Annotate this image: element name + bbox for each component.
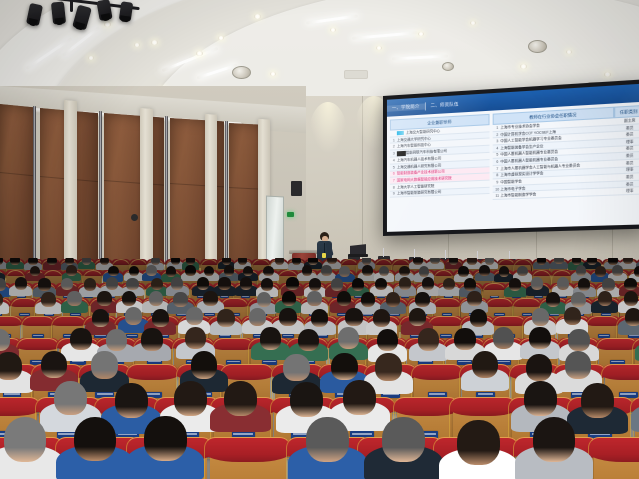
audience-member-head xyxy=(532,308,549,326)
auditorium-seat[interactable] xyxy=(210,440,286,479)
laptop xyxy=(348,254,368,257)
row-index: 4 xyxy=(391,158,397,163)
audience-member-head xyxy=(449,258,459,265)
audience-member-head xyxy=(0,352,22,380)
audience-member-head xyxy=(191,351,217,379)
audience-member-head xyxy=(546,292,561,307)
audience-member-head xyxy=(152,309,169,327)
audience-member-head xyxy=(467,258,477,265)
row-index: 9 xyxy=(391,192,397,196)
audience-member-head xyxy=(173,292,188,307)
audience-member-head xyxy=(576,265,587,276)
slide-right-table: 教师在行业协会任职情况 任职类别 1上海市专业技术协会学会副主席2中国计算机学会… xyxy=(493,105,639,229)
slide-left-table: 企业兼职导师 上海交大智能研究中心1上海交通大学研究中心2上海汽车智能科技中心3… xyxy=(390,114,490,232)
row-index: 7 xyxy=(391,178,397,183)
row-role: 理事 xyxy=(617,167,639,173)
microphone-stem xyxy=(383,248,384,257)
row-role: 委员 xyxy=(617,160,639,166)
audience-member-head xyxy=(186,307,203,325)
partition-seam xyxy=(33,106,36,282)
audience-member-head xyxy=(91,351,117,379)
row-role: 委员 xyxy=(617,146,639,152)
audience-member-head xyxy=(125,307,142,325)
audience-member-head xyxy=(54,381,87,416)
audience-member-head xyxy=(174,381,207,416)
audience-member-head xyxy=(375,278,387,291)
downlight-icon xyxy=(88,56,94,60)
ceiling-speaker-icon xyxy=(232,66,251,79)
audience-member-head xyxy=(38,278,50,291)
audience-member-head xyxy=(224,381,257,416)
row-index: 6 xyxy=(494,160,500,165)
audience-member-head xyxy=(595,266,606,277)
audience-member-head xyxy=(171,277,183,290)
audience-member-head xyxy=(222,258,232,265)
audience-member-head xyxy=(331,278,343,291)
row-index xyxy=(391,131,397,136)
audience-member-head xyxy=(331,353,357,381)
audience-member-head xyxy=(261,278,273,291)
audience-member-head xyxy=(517,266,528,277)
audience-member-head xyxy=(286,277,298,290)
audience-member-head xyxy=(311,309,328,327)
row-index: 8 xyxy=(391,185,397,190)
audience-member-head xyxy=(290,382,323,417)
audience-member-head xyxy=(467,291,482,306)
audience-member-head xyxy=(526,354,552,382)
audience-member-head xyxy=(464,278,476,291)
stage-spotlight xyxy=(51,1,66,24)
audience-member-head xyxy=(598,291,613,306)
downlight-icon xyxy=(330,28,336,32)
audience-member-head xyxy=(4,417,47,461)
row-role: 委员 xyxy=(617,153,639,159)
audience-member-head xyxy=(238,258,248,265)
audience-member-head xyxy=(218,277,230,290)
row-index: 6 xyxy=(391,172,397,177)
audience-member-head xyxy=(571,292,586,307)
projection-screen[interactable]: 一、学院简介 二、师资队伍 企业兼职导师 上海交大智能研究中心1上海交通大学研究… xyxy=(383,79,639,236)
audience-member-head xyxy=(361,292,376,307)
audience-member-head xyxy=(129,266,140,277)
audience-member-head xyxy=(362,258,372,265)
audience-member-head xyxy=(608,258,618,265)
downlight-icon xyxy=(270,72,276,76)
audience-member-head xyxy=(624,291,639,306)
row-index: 4 xyxy=(494,146,500,151)
microphone-stem xyxy=(414,249,415,258)
audience-member-head xyxy=(70,328,91,350)
downlight-icon xyxy=(470,21,476,25)
downlight-icon xyxy=(604,72,611,77)
audience-member-head xyxy=(141,328,162,350)
audience-member-head xyxy=(302,265,313,276)
audience-member-head xyxy=(472,351,498,379)
row-index: 1 xyxy=(494,125,500,130)
audience-member-head xyxy=(499,266,510,277)
exit-sign-icon xyxy=(287,212,294,217)
audience-member-head xyxy=(578,278,590,291)
audience-member-head xyxy=(399,266,410,277)
row-role: 理事 xyxy=(617,188,639,193)
row-index: 2 xyxy=(391,144,397,149)
audience-member-head xyxy=(581,383,614,418)
audience-member-head xyxy=(249,308,266,326)
audience-member-head xyxy=(422,277,434,290)
audience-member-head xyxy=(509,278,521,291)
ceiling-vent xyxy=(344,70,368,79)
wall-light-glow xyxy=(308,102,348,154)
audience-member-head xyxy=(399,277,411,290)
audience-member-head xyxy=(625,308,639,326)
row-index: 3 xyxy=(391,151,397,156)
audience-member-head xyxy=(612,265,623,276)
downlight-icon xyxy=(418,32,424,36)
ceiling-speaker-icon xyxy=(528,40,547,53)
row-role: 委员 xyxy=(617,125,639,131)
audience-member-head xyxy=(10,258,20,265)
ceiling-speaker-icon xyxy=(442,62,454,71)
audience-member-head xyxy=(479,265,490,276)
audience-member-head xyxy=(306,417,349,461)
slide-body: 企业兼职导师 上海交大智能研究中心1上海交通大学研究中心2上海汽车智能科技中心3… xyxy=(387,102,639,232)
row-index: 9 xyxy=(494,180,500,185)
audience-member-head xyxy=(108,266,119,277)
row-role: 理事 xyxy=(617,139,639,145)
presentation-slide: 一、学院简介 二、师资队伍 企业兼职导师 上海交大智能研究中心1上海交通大学研究… xyxy=(387,83,639,231)
audience-member-head xyxy=(307,291,322,306)
audience-member-head xyxy=(257,292,272,307)
audience-member-head xyxy=(166,266,177,277)
audience-member-head xyxy=(185,327,206,349)
audience-member-head xyxy=(283,354,309,382)
audience-member-head xyxy=(470,309,487,327)
audience-member-head xyxy=(458,266,469,277)
audience-member-head xyxy=(375,353,401,381)
audience-member-head xyxy=(382,417,425,461)
audience-member-head xyxy=(624,278,636,291)
right-table-rows: 1上海市专业技术协会学会副主席2中国计算机学会CCF YOCSEF上海委员3中国… xyxy=(493,117,639,200)
audience-member-head xyxy=(149,291,164,306)
downlight-icon xyxy=(520,64,527,69)
wall-display-panel xyxy=(291,181,302,196)
downlight-icon xyxy=(218,36,224,40)
audience-member-head xyxy=(185,265,196,276)
row-role: 委员 xyxy=(617,181,639,186)
audience-member-head xyxy=(418,328,439,350)
audience-member-head xyxy=(126,278,138,291)
downlight-icon xyxy=(376,46,382,50)
wall-mounted-box xyxy=(131,214,138,221)
redacted-block xyxy=(397,151,406,156)
audience-member-head xyxy=(419,266,430,277)
audience-member-head xyxy=(409,308,426,326)
audience-member-head xyxy=(308,258,318,265)
slide-tab-2[interactable]: 二、师资队伍 xyxy=(425,101,463,109)
audience-member-head xyxy=(373,309,390,327)
row-index: 7 xyxy=(494,166,500,171)
audience-member-head xyxy=(217,309,234,327)
audience-member-head xyxy=(61,278,73,291)
row-index: 3 xyxy=(494,139,500,144)
audience-member-head xyxy=(203,291,218,306)
audience-member-head xyxy=(171,258,181,265)
audience-member-head xyxy=(47,258,57,265)
audience-member-head xyxy=(339,266,350,277)
audience-member-head xyxy=(82,258,92,265)
audience-member-head xyxy=(531,277,543,290)
row-index: 1 xyxy=(391,138,397,143)
audience-member-head xyxy=(565,351,591,379)
audience-member-head xyxy=(634,266,639,277)
audience-member-head xyxy=(106,329,127,351)
audience-member-head xyxy=(66,265,77,276)
stage-light-truss xyxy=(70,0,73,12)
audience-member-head xyxy=(454,328,475,350)
audience-member-head xyxy=(41,351,67,379)
row-role: 委员 xyxy=(617,174,639,180)
audience-member-head xyxy=(362,265,373,276)
left-table-rows: 上海交大智能研究中心1上海交通大学研究中心2上海汽车智能科技中心3智能网联汽车科… xyxy=(390,125,490,198)
audience-member-head xyxy=(282,291,297,306)
downlight-icon xyxy=(104,22,111,27)
audience-member-head xyxy=(204,266,215,277)
audience-member-head xyxy=(337,291,352,306)
audience-member-head xyxy=(377,329,398,351)
audience-member-head xyxy=(529,327,550,349)
audience-member-head xyxy=(557,277,569,290)
downlight-icon xyxy=(254,14,261,19)
audience-member-head xyxy=(309,278,321,291)
audience-member-head xyxy=(386,292,401,307)
audience-member-head xyxy=(415,292,430,307)
audience-member-head xyxy=(146,265,157,276)
audience-member-head xyxy=(115,383,148,418)
row-index: 5 xyxy=(391,165,397,170)
slide-tab-1[interactable]: 一、学院简介 xyxy=(387,103,425,111)
audience-member-head xyxy=(345,308,362,326)
row-index: 10 xyxy=(494,187,500,192)
audience-member-head xyxy=(493,327,514,349)
audience-member-head xyxy=(338,327,359,349)
auditorium-seat[interactable] xyxy=(594,440,639,479)
audience-member-head xyxy=(106,277,118,290)
audience-member-head xyxy=(74,417,117,461)
row-index: 11 xyxy=(494,194,500,199)
audience-member-head xyxy=(413,258,423,265)
audience-member-head xyxy=(240,277,252,290)
audience-member-head xyxy=(564,307,581,325)
downlight-icon xyxy=(196,51,203,56)
audience-member-head xyxy=(524,381,557,416)
audience-member-head xyxy=(15,277,27,290)
downlight-icon xyxy=(566,50,572,54)
audience-member-head xyxy=(144,416,187,460)
audience-member-head xyxy=(587,258,597,265)
row-index: 8 xyxy=(494,173,500,178)
row-index: 5 xyxy=(494,153,500,158)
audience-member-head xyxy=(537,258,547,265)
audience-member-head xyxy=(67,291,82,306)
audience-member-head xyxy=(263,266,274,277)
audience-member-head xyxy=(343,380,376,415)
audience-member-head xyxy=(352,278,364,291)
audience-member-head xyxy=(84,278,96,291)
audience-member-head xyxy=(533,417,576,461)
audience-member-head xyxy=(321,265,332,276)
audience-member-head xyxy=(224,265,235,276)
downlight-icon xyxy=(151,40,158,45)
downlight-icon xyxy=(134,43,140,47)
audience-member-head xyxy=(122,291,137,306)
audience-member-head xyxy=(457,420,500,464)
row-role: 副主席 xyxy=(617,118,639,124)
audience-member-head xyxy=(279,308,296,326)
auditorium-photo: 一、学院简介 二、师资队伍 企业兼职导师 上海交大智能研究中心1上海交通大学研究… xyxy=(0,0,639,479)
audience-member-head xyxy=(0,278,6,291)
audience-member-head xyxy=(41,292,56,307)
audience-member-head xyxy=(92,309,109,327)
company-logo-icon xyxy=(397,131,404,135)
row-index: 2 xyxy=(494,132,500,137)
row-role: 委员 xyxy=(617,132,639,138)
audience-member-head xyxy=(97,291,112,306)
audience-member-head xyxy=(572,258,582,265)
audience-member-head xyxy=(602,278,614,291)
audience-member-head xyxy=(260,327,281,349)
audience-member-head xyxy=(568,329,589,351)
audience-member-head xyxy=(298,329,319,351)
audience-member-head xyxy=(197,277,209,290)
audience-seating xyxy=(0,258,639,479)
